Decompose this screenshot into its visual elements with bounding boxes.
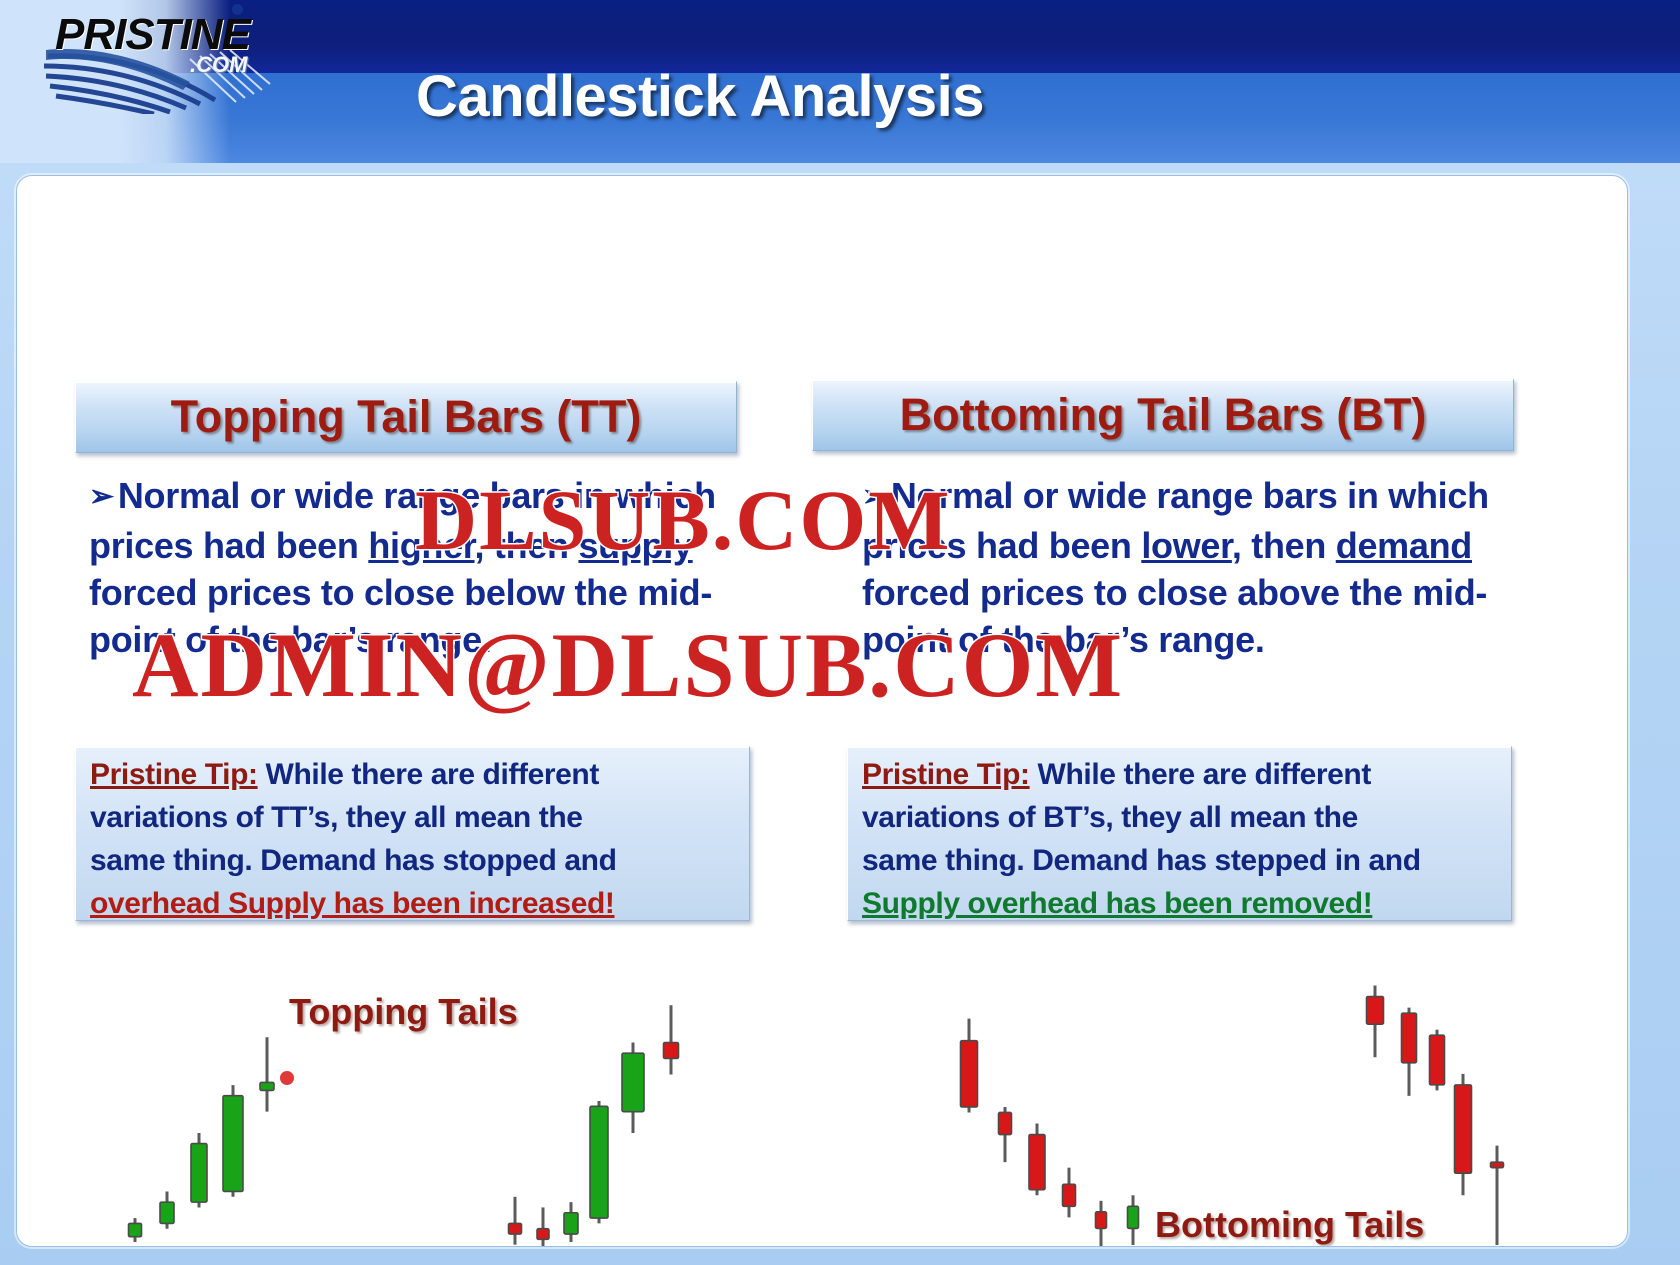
bullet-tt-p2: , then (475, 525, 579, 566)
pristine-tip-box-right: Pristine Tip: While there are different … (847, 746, 1512, 921)
tip-right-line-2: variations of BT’s, they all mean the (862, 796, 1501, 839)
content-card: Topping Tail Bars (TT) ➢Normal or wide r… (16, 175, 1628, 1247)
chart-label-bottoming-tails: Bottoming Tails (1155, 1204, 1424, 1246)
bullet-bottoming-tail-description: ➢Normal or wide range bars in which pric… (862, 472, 1502, 663)
heading-bottoming-tail-bars: Bottoming Tail Bars (BT) (812, 379, 1514, 451)
bullet-bt-u2: demand (1336, 525, 1472, 566)
candle-body (1029, 1135, 1045, 1190)
bullet-topping-tail-description: ➢Normal or wide range bars in which pric… (89, 472, 739, 663)
candle-body (1096, 1212, 1107, 1229)
candle-body (1367, 997, 1384, 1025)
tip-left-line-4: overhead Supply has been increased! (90, 882, 739, 925)
candle-body (1430, 1035, 1445, 1085)
candle-body (509, 1223, 522, 1234)
candle-body (664, 1043, 679, 1059)
candle-body (1128, 1206, 1139, 1228)
tip-right-line-4: Supply overhead has been removed! (862, 882, 1501, 925)
candle-body (260, 1082, 274, 1090)
bullet-tt-u1: higher (368, 525, 474, 566)
logo-dot-icon (232, 4, 243, 15)
tip-right-line-1: Pristine Tip: While there are different (862, 753, 1501, 796)
chart-marker-dot (280, 1071, 294, 1085)
bullet-bt-p3: forced prices to close above the mid-poi… (862, 572, 1487, 660)
candle-body (961, 1041, 978, 1107)
page-title: Candlestick Analysis (0, 63, 1400, 130)
slide-root: PRISTINE .COM Candlestick Analysis Toppi… (0, 0, 1680, 1265)
candle-body (1455, 1085, 1472, 1173)
tip-left-line-2: variations of TT’s, they all mean the (90, 796, 739, 839)
heading-topping-tail-bars-label: Topping Tail Bars (TT) (76, 382, 736, 452)
bullet-arrow-icon: ➢ (862, 473, 887, 520)
bullet-arrow-icon: ➢ (89, 473, 114, 520)
candle-body (590, 1106, 608, 1218)
candle-body (999, 1112, 1012, 1134)
candle-body (537, 1229, 549, 1240)
candle-body (622, 1053, 644, 1112)
tip-right-line-3: same thing. Demand has stepped in and (862, 839, 1501, 882)
tip-right-label: Pristine Tip: (862, 758, 1030, 791)
candle-body (191, 1144, 207, 1203)
bullet-tt-p3: forced prices to close below the mid-poi… (89, 572, 712, 660)
candle-body (1491, 1162, 1504, 1168)
tip-right-line1-rest: While there are different (1030, 758, 1371, 791)
chart-label-topping-tails: Topping Tails (289, 991, 518, 1033)
candle-body (160, 1202, 174, 1223)
candle-body (564, 1213, 578, 1234)
tip-left-line1-rest: While there are different (258, 758, 599, 791)
bullet-bt-p2: , then (1232, 525, 1336, 566)
tip-left-label: Pristine Tip: (90, 758, 258, 791)
heading-bottoming-tail-bars-label: Bottoming Tail Bars (BT) (813, 380, 1513, 450)
bullet-tt-u2: supply (578, 525, 692, 566)
heading-topping-tail-bars: Topping Tail Bars (TT) (75, 381, 737, 453)
tip-left-line-3: same thing. Demand has stopped and (90, 839, 739, 882)
candle-body (1402, 1013, 1417, 1063)
pristine-tip-box-left: Pristine Tip: While there are different … (75, 746, 750, 921)
tip-left-line-1: Pristine Tip: While there are different (90, 753, 739, 796)
candle-body (223, 1096, 243, 1192)
bullet-bt-u1: lower (1141, 525, 1232, 566)
candle-body (1063, 1184, 1076, 1206)
candle-body (129, 1223, 142, 1236)
